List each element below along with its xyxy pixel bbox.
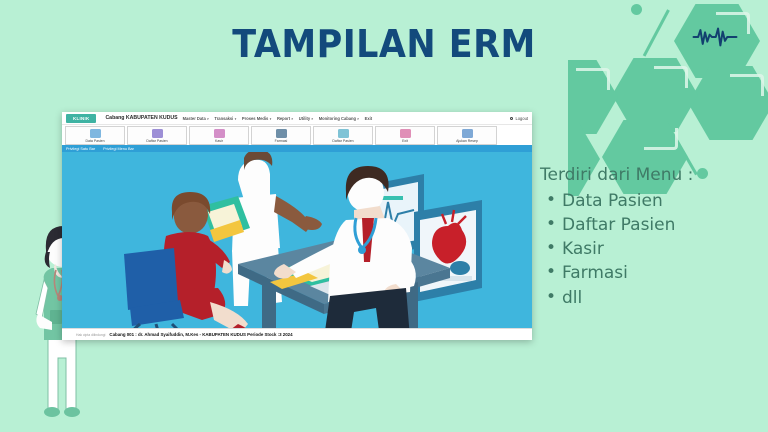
logout-label: Logout — [515, 116, 528, 121]
list-item: Kasir — [540, 237, 693, 261]
power-icon — [510, 117, 513, 120]
menu-item-transaksi[interactable]: Transaksi▾ — [214, 116, 236, 121]
menu-description-block: Terdiri dari Menu : Data Pasien Daftar P… — [540, 165, 693, 310]
logout-button[interactable]: Logout — [510, 116, 528, 121]
menu-lead-text: Terdiri dari Menu : — [540, 165, 693, 185]
pharmacy-icon — [276, 129, 287, 138]
list-item: Farmasi — [540, 261, 693, 285]
patient-list-icon — [152, 129, 163, 138]
list-item: Data Pasien — [540, 189, 693, 213]
branch-title: Cabang KABUPATEN KUDUS — [105, 115, 177, 121]
hexagon-highlight — [654, 66, 688, 88]
hexagon-highlight — [644, 128, 678, 150]
privilege-satu-bar: Privilegi Satu Bar — [66, 147, 95, 151]
list-item: dll — [540, 286, 693, 310]
hexagon-shape — [568, 60, 618, 134]
toolbar[interactable]: Data Pasien Daftar Pasien Kasir Farmasi … — [62, 125, 532, 145]
footer-text: Cabang 001 : dr. Ahmad Syaifuddin, M.Kes… — [109, 332, 292, 337]
molecule-dot — [631, 4, 642, 15]
menubar[interactable]: Master Data▾ Transaksi▾ Proses Medis▾ Re… — [183, 116, 373, 121]
menu-item-exit[interactable]: Exit — [365, 116, 373, 121]
hexagon-highlight — [730, 74, 764, 96]
toolbar-button-daftar-pasien-2[interactable]: Daftar Pasien — [313, 126, 373, 145]
menu-item-utility[interactable]: Utility▾ — [299, 116, 313, 121]
toolbar-button-ajukan-resep[interactable]: Ajukan Resep — [437, 126, 497, 145]
erm-app-window[interactable]: KLINIK Cabang KABUPATEN KUDUS Master Dat… — [62, 112, 532, 340]
app-footer: Hak cipta dilindungi Cabang 001 : dr. Ah… — [62, 328, 532, 340]
hexagon-shape — [688, 66, 768, 140]
klinik-badge: KLINIK — [66, 114, 96, 123]
menu-item-master-data[interactable]: Master Data▾ — [183, 116, 209, 121]
toolbar-button-daftar-pasien[interactable]: Daftar Pasien — [127, 126, 187, 145]
consultation-illustration — [62, 152, 532, 338]
menu-item-report[interactable]: Report▾ — [277, 116, 293, 121]
toolbar-button-data-pasien[interactable]: Data Pasien — [65, 126, 125, 145]
hexagon-shape — [612, 58, 698, 132]
menu-item-proses-medis[interactable]: Proses Medis▾ — [242, 116, 271, 121]
privilege-menu-bar: Privilegi Menu Bar — [103, 147, 134, 151]
toolbar-button-kasir[interactable]: Kasir — [189, 126, 249, 145]
page-title: TAMPILAN ERM — [31, 22, 738, 66]
list-item: Daftar Pasien — [540, 213, 693, 237]
menu-item-monitoring-cabang[interactable]: Monitoring Cabang▾ — [319, 116, 359, 121]
exit-door-icon — [400, 129, 411, 138]
calendar-icon — [338, 129, 349, 138]
patient-card-icon — [90, 129, 101, 138]
app-header-bar: KLINIK Cabang KABUPATEN KUDUS Master Dat… — [62, 112, 532, 125]
cashier-icon — [214, 129, 225, 138]
toolbar-button-exit[interactable]: Exit — [375, 126, 435, 145]
molecule-dot — [697, 168, 708, 179]
app-canvas — [62, 152, 532, 338]
privilege-info-bar: Privilegi Satu Bar Privilegi Menu Bar — [62, 145, 532, 152]
prescription-icon — [462, 129, 473, 138]
toolbar-button-farmasi[interactable]: Farmasi — [251, 126, 311, 145]
footer-prefix: Hak cipta dilindungi — [76, 333, 105, 337]
hexagon-highlight — [576, 68, 610, 90]
menu-list: Data Pasien Daftar Pasien Kasir Farmasi … — [540, 189, 693, 310]
